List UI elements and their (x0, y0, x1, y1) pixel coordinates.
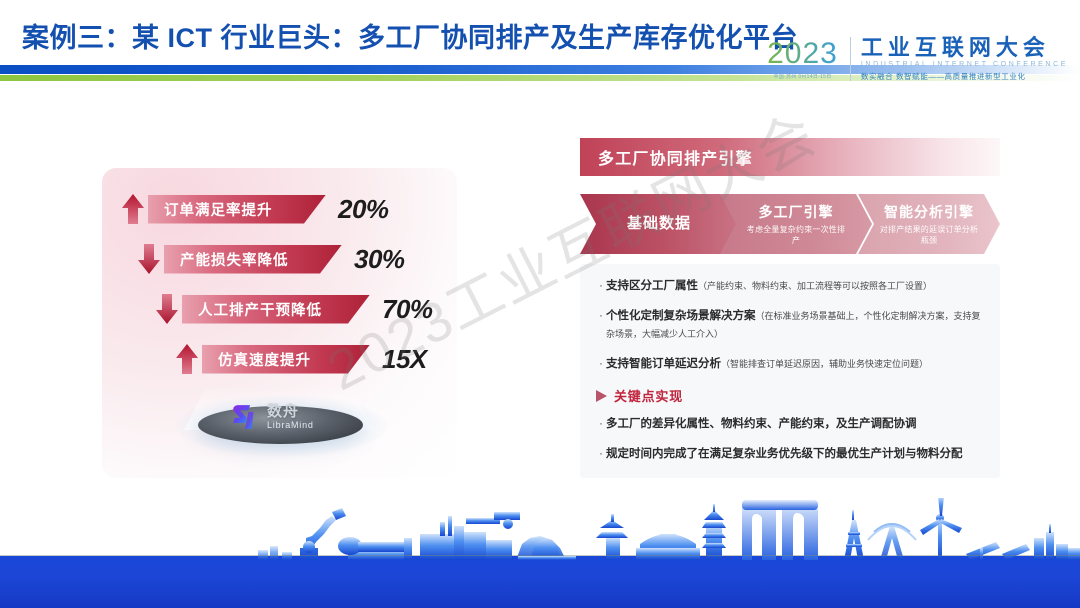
bullet-dot-icon: · (596, 356, 606, 371)
flow-step: 多工厂引擎 考虑全量复杂约束一次性排产 (720, 194, 872, 254)
metric-value: 20% (338, 194, 389, 225)
brand-name-en: LibraMind (267, 421, 314, 430)
metric-label-ribbon: 订单满足率提升 (148, 195, 326, 224)
page-title: 案例三：某 ICT 行业巨头：多工厂协同排产及生产库存优化平台 (22, 16, 798, 55)
logo-name-cn: 工业互联网大会 (861, 36, 1068, 59)
metric-label: 产能损失率降低 (180, 249, 289, 270)
list-item: · 支持区分工厂属性（产能约束、物料约束、加工流程等可以按照各工厂设置） (596, 278, 984, 295)
arrow-up-icon (174, 342, 200, 376)
list-item: · 支持智能订单延迟分析（智能排查订单延迟原因，辅助业务快速定位问题） (596, 356, 984, 373)
engine-panel: 多工厂协同排产引擎 基础数据 多工厂引擎 考虑全量复杂约束一次性排产 智能分析引… (580, 138, 1000, 478)
flow-step-title: 基础数据 (627, 212, 691, 233)
arrow-up-icon (120, 192, 146, 226)
metric-label: 人工排产干预降低 (198, 299, 322, 320)
slide-root: 案例三：某 ICT 行业巨头：多工厂协同排产及生产库存优化平台 2023 中国·… (0, 0, 1080, 608)
list-item-text: 多工厂的差异化属性、物料约束、产能约束，及生产调配协调 (606, 416, 917, 433)
footer-horizon-line (0, 555, 1080, 556)
list-item-text: 个性化定制复杂场景解决方案（在标准业务场景基础上，个性化定制解决方案，支持复杂场… (606, 308, 984, 343)
list-item-text: 规定时间内完成了在满足复杂业务优先级下的最优生产计划与物料分配 (606, 446, 963, 463)
flow-step: 基础数据 (580, 194, 738, 254)
metric-row: 人工排产干预降低 70% (154, 290, 433, 328)
metric-value: 70% (382, 294, 433, 325)
process-flow: 基础数据 多工厂引擎 考虑全量复杂约束一次性排产 智能分析引擎 对排产结果的延误… (580, 194, 1000, 254)
metric-label-ribbon: 人工排产干预降低 (182, 295, 370, 324)
list-item-main: 规定时间内完成了在满足复杂业务优先级下的最优生产计划与物料分配 (606, 448, 963, 460)
logo-year: 2023 (767, 39, 838, 69)
conference-logo: 2023 中国·苏州 9月14日-15日 工业互联网大会 INDUSTRIAL … (767, 28, 1068, 90)
list-item: · 多工厂的差异化属性、物料约束、产能约束，及生产调配协调 (596, 416, 984, 433)
brand-text: 数舟 LibraMind (267, 404, 314, 430)
logo-year-subtitle: 中国·苏州 9月14日-15日 (767, 73, 838, 80)
key-points-heading-text: 关键点实现 (614, 386, 683, 405)
play-triangle-icon (596, 390, 607, 402)
metric-label: 仿真速度提升 (218, 349, 311, 370)
logo-name-en: INDUSTRIAL INTERNET CONFERENCE (861, 61, 1068, 68)
list-item: · 个性化定制复杂场景解决方案（在标准业务场景基础上，个性化定制解决方案，支持复… (596, 308, 984, 343)
logo-divider (850, 37, 851, 81)
list-item-main: 支持区分工厂属性 (606, 280, 698, 292)
product-brand: 数舟 LibraMind (228, 400, 314, 434)
arrow-down-icon (154, 292, 180, 326)
bullet-dot-icon: · (596, 416, 606, 431)
panel-title-text: 多工厂协同排产引擎 (598, 145, 753, 169)
list-item-main: 个性化定制复杂场景解决方案 (606, 310, 756, 322)
metric-row: 订单满足率提升 20% (120, 190, 389, 228)
list-item: · 规定时间内完成了在满足复杂业务优先级下的最优生产计划与物料分配 (596, 446, 984, 463)
list-item-main: 支持智能订单延迟分析 (606, 358, 721, 370)
flow-step: 智能分析引擎 对排产结果的延误订单分析瓶颈 (858, 194, 1000, 254)
list-item-main: 多工厂的差异化属性、物料约束、产能约束，及生产调配协调 (606, 418, 917, 430)
list-item-note: （产能约束、物料约束、加工流程等可以按照各工厂设置） (698, 281, 932, 291)
key-points-heading: 关键点实现 (596, 386, 984, 405)
footer-band (0, 556, 1080, 608)
metric-label-ribbon: 产能损失率降低 (164, 245, 342, 274)
logo-text-block: 工业互联网大会 INDUSTRIAL INTERNET CONFERENCE 数… (861, 36, 1068, 82)
metric-label: 订单满足率提升 (164, 199, 273, 220)
libramind-logo-icon (228, 400, 262, 434)
metric-row: 产能损失率降低 30% (136, 240, 405, 278)
flow-step-sub: 考虑全量复杂约束一次性排产 (744, 225, 848, 247)
logo-year-block: 2023 中国·苏州 9月14日-15日 (767, 39, 850, 80)
feature-list: · 支持区分工厂属性（产能约束、物料约束、加工流程等可以按照各工厂设置） · 个… (580, 264, 1000, 478)
metric-value: 15X (382, 344, 427, 375)
list-item-text: 支持智能订单延迟分析（智能排查订单延迟原因，辅助业务快速定位问题） (606, 356, 928, 373)
metric-value: 30% (354, 244, 405, 275)
slide-header: 案例三：某 ICT 行业巨头：多工厂协同排产及生产库存优化平台 2023 中国·… (0, 0, 1080, 100)
metric-row: 仿真速度提升 15X (174, 340, 427, 378)
flow-step-title: 多工厂引擎 (759, 202, 834, 222)
list-item-note: （智能排查订单延迟原因，辅助业务快速定位问题） (721, 359, 928, 369)
bullet-dot-icon: · (596, 446, 606, 461)
flow-step-title: 智能分析引擎 (884, 202, 974, 222)
city-skyline-icon (0, 498, 1080, 560)
bullet-dot-icon: · (596, 278, 606, 293)
flow-step-sub: 对排产结果的延误订单分析瓶颈 (877, 225, 981, 247)
list-item-text: 支持区分工厂属性（产能约束、物料约束、加工流程等可以按照各工厂设置） (606, 278, 932, 295)
logo-tagline: 数实融合 数智赋能——高质量推进新型工业化 (861, 71, 1068, 82)
arrow-down-icon (136, 242, 162, 276)
metric-label-ribbon: 仿真速度提升 (202, 345, 370, 374)
metrics-card: 订单满足率提升 20% 产能损失率降低 30% 人工排产干预降低 7 (102, 168, 457, 478)
brand-name-cn: 数舟 (267, 404, 314, 419)
bullet-dot-icon: · (596, 308, 606, 323)
panel-title-bar: 多工厂协同排产引擎 (580, 138, 1000, 176)
